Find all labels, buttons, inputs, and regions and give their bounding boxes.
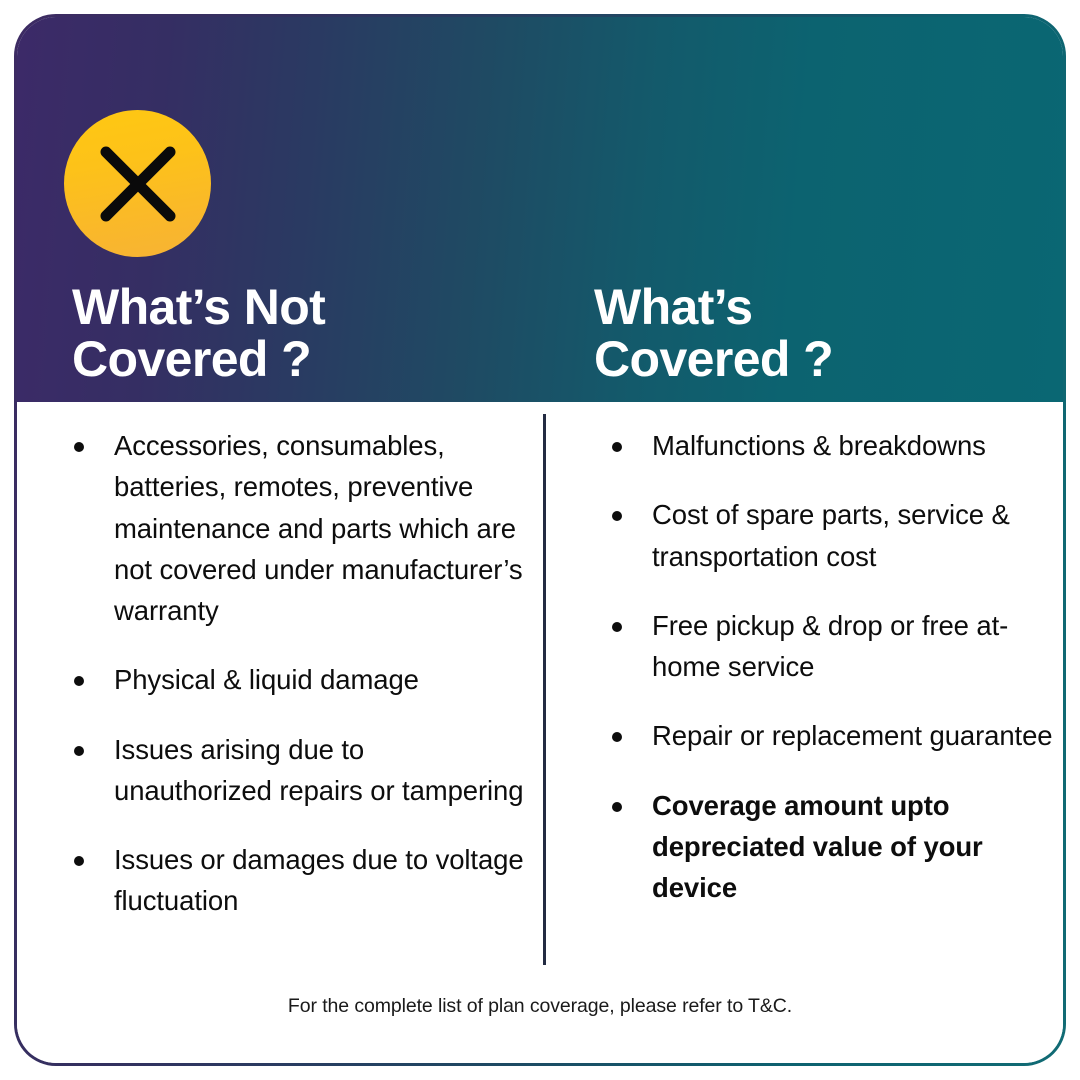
- list-item-text: Repair or replacement guarantee: [652, 720, 1052, 751]
- list-item-text: Malfunctions & breakdowns: [652, 430, 986, 461]
- not-covered-title: What’s Not Covered ?: [72, 281, 325, 385]
- list-item-text: Issues arising due to unauthorized repai…: [114, 734, 523, 806]
- list-item: Physical & liquid damage: [57, 659, 527, 700]
- header-column-covered: What’s Covered ?: [540, 17, 1063, 402]
- not-covered-list: Accessories, consumables, batteries, rem…: [57, 425, 527, 922]
- list-item: Issues or damages due to voltage fluctua…: [57, 839, 527, 922]
- list-item: Free pickup & drop or free at-home servi…: [595, 605, 1055, 688]
- covered-title: What’s Covered ?: [594, 281, 833, 385]
- list-item-text: Issues or damages due to voltage fluctua…: [114, 844, 524, 916]
- list-item-text: Accessories, consumables, batteries, rem…: [114, 430, 523, 626]
- card-header: What’s Not Covered ? What’s Covered ?: [17, 17, 1063, 402]
- list-item: Repair or replacement guarantee: [595, 715, 1055, 756]
- list-item-text: Free pickup & drop or free at-home servi…: [652, 610, 1008, 682]
- list-item: Issues arising due to unauthorized repai…: [57, 729, 527, 812]
- list-item: Accessories, consumables, batteries, rem…: [57, 425, 527, 631]
- list-item: Cost of spare parts, service & transport…: [595, 494, 1055, 577]
- coverage-comparison-card: What’s Not Covered ? What’s Covered ? Ac…: [14, 14, 1066, 1066]
- list-item: Coverage amount upto depreciated value o…: [595, 785, 1055, 909]
- card-body: Accessories, consumables, batteries, rem…: [17, 402, 1063, 1063]
- footer-note: For the complete list of plan coverage, …: [17, 995, 1063, 1018]
- list-item-text: Cost of spare parts, service & transport…: [652, 499, 1010, 571]
- cross-icon: [64, 110, 211, 257]
- list-item-text: Coverage amount upto depreciated value o…: [652, 790, 983, 904]
- header-column-not-covered: What’s Not Covered ?: [17, 17, 540, 402]
- covered-list: Malfunctions & breakdowns Cost of spare …: [595, 425, 1055, 908]
- list-item: Malfunctions & breakdowns: [595, 425, 1055, 466]
- column-divider: [543, 414, 546, 965]
- list-item-text: Physical & liquid damage: [114, 664, 419, 695]
